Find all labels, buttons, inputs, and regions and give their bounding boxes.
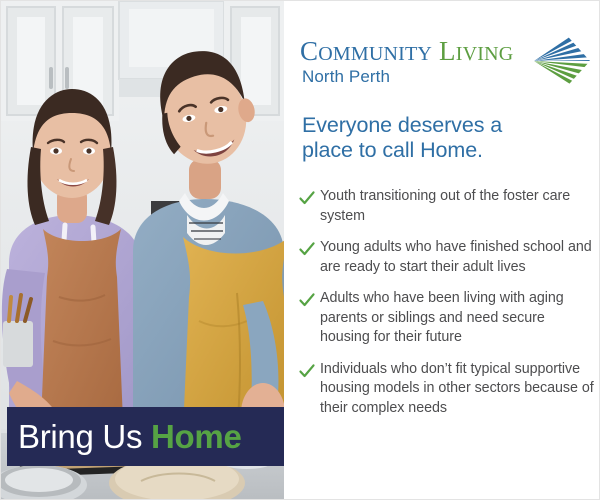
list-item: Young adults who have finished school an…	[298, 238, 594, 277]
banner-text-white: Bring Us	[18, 418, 142, 455]
list-item-label: Adults who have been living with aging p…	[320, 289, 594, 348]
logo-wordmark: COMMUNITYLIVING	[300, 36, 513, 67]
list-item-label: Individuals who don’t fit typical suppor…	[320, 360, 594, 419]
check-icon	[298, 240, 316, 258]
organization-logo[interactable]: COMMUNITYLIVING North Perth	[300, 28, 590, 96]
check-icon	[298, 362, 316, 380]
logo-word-community: COMMUNITY	[300, 36, 432, 66]
banner-text-green: Home	[151, 418, 242, 455]
list-item-label: Youth transitioning out of the foster ca…	[320, 187, 594, 226]
logo-word-living: LIVING	[439, 36, 513, 66]
content-panel: COMMUNITYLIVING North Perth	[284, 1, 600, 500]
headline-line-1: Everyone deserves a	[302, 113, 574, 138]
utensil-crock-icon	[1, 293, 41, 367]
bring-us-home-banner: Bring Us Home	[7, 407, 284, 466]
list-item: Youth transitioning out of the foster ca…	[298, 187, 594, 226]
list-item: Individuals who don’t fit typical suppor…	[298, 360, 594, 419]
headline-line-2: place to call Home.	[302, 138, 574, 163]
banner-text: Bring Us Home	[7, 420, 242, 453]
check-icon	[298, 189, 316, 207]
radiating-diamond-logo-mark	[532, 28, 592, 94]
list-item-label: Young adults who have finished school an…	[320, 238, 594, 277]
check-icon	[298, 291, 316, 309]
eligibility-list: Youth transitioning out of the foster ca…	[298, 187, 594, 418]
poster-root: Bring Us Home COMMUNITYLIVING North Pert…	[0, 0, 600, 500]
logo-subtitle: North Perth	[302, 67, 390, 87]
list-item: Adults who have been living with aging p…	[298, 289, 594, 348]
page-title: Everyone deserves a place to call Home.	[302, 113, 574, 163]
